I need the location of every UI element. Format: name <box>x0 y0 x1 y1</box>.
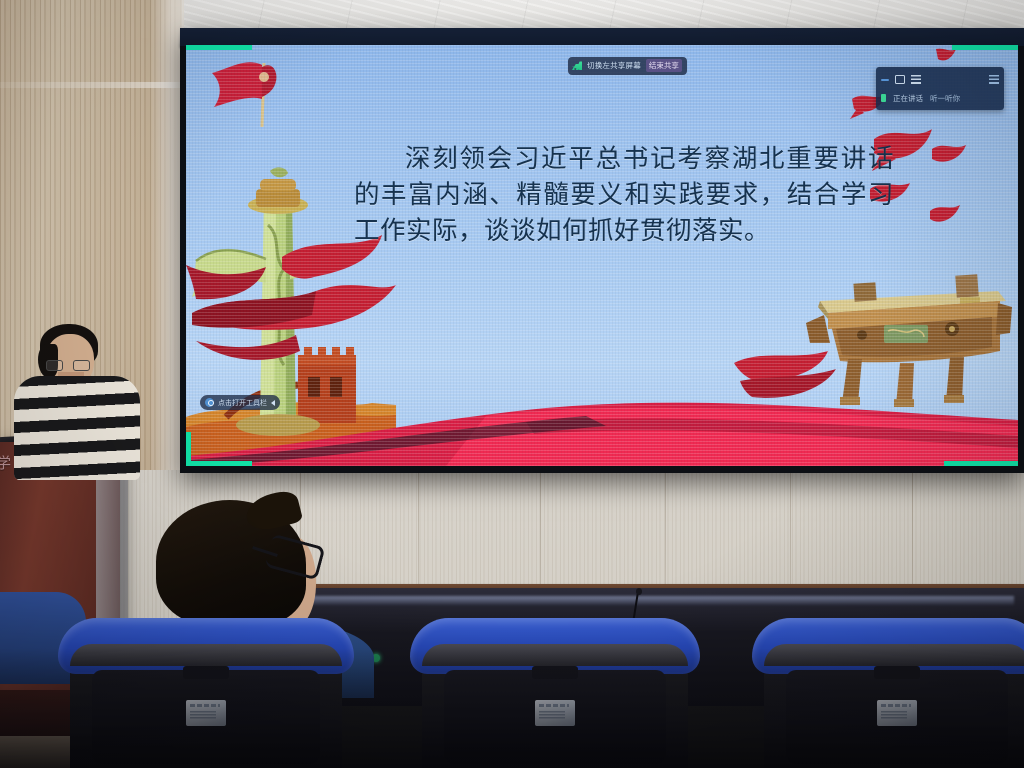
chair-shell-lip <box>764 644 1024 666</box>
mini-toolbar[interactable]: 点击打开工具栏 <box>200 395 280 410</box>
mini-toolbar-label: 点击打开工具栏 <box>218 398 267 408</box>
red-silk-wave-icon <box>186 392 1018 466</box>
chair-label-sticker <box>535 700 575 726</box>
auditorium-chair[interactable] <box>410 618 700 768</box>
microphone-head <box>636 588 642 595</box>
chair-shell-lip <box>70 644 342 666</box>
presenter-glasses-icon <box>46 360 90 371</box>
screen-share-badge[interactable]: 切换左共享屏幕 结束共享 <box>568 57 687 75</box>
lecture-hall-scene: 深刻领会习近平总书记考察湖北重要讲话的丰富内涵、精髓要义和实践要求，结合学习工作… <box>0 0 1024 768</box>
share-status-text: 正在讲话 <box>893 93 923 104</box>
minimize-icon[interactable] <box>881 79 889 81</box>
screen-top-bezel <box>180 28 1024 46</box>
share-panel-toolbar[interactable] <box>881 72 999 87</box>
led-wall-screen[interactable]: 深刻领会习近平总书记考察湖北重要讲话的丰富内涵、精髓要义和实践要求，结合学习工作… <box>180 28 1024 473</box>
chair-tab <box>183 666 229 679</box>
calibration-marker <box>944 461 1018 466</box>
share-speaker-text: 听一听你 <box>930 93 960 104</box>
stop-share-button[interactable]: 结束共享 <box>646 59 682 72</box>
share-control-panel[interactable]: 正在讲话 听一听你 <box>876 67 1004 110</box>
share-panel-status: 正在讲话 听一听你 <box>881 91 999 105</box>
list-icon[interactable] <box>911 75 921 84</box>
signal-bars-icon <box>572 61 582 70</box>
calibration-marker <box>186 45 252 50</box>
wall-corner-edge <box>150 0 184 470</box>
desk-light-reflection <box>272 596 1014 605</box>
calibration-marker <box>952 45 1018 50</box>
chair-label-sticker <box>186 700 226 726</box>
record-icon[interactable] <box>205 398 214 407</box>
auditorium-chair[interactable] <box>752 618 1024 768</box>
presenter-striped-sweater <box>14 376 140 480</box>
red-flag-icon <box>202 55 306 137</box>
chair-shell-lip <box>422 644 688 666</box>
chair-tab <box>532 666 578 679</box>
share-badge-label: 切换左共享屏幕 <box>587 60 641 71</box>
calibration-marker <box>186 461 252 466</box>
auditorium-chair[interactable] <box>58 618 354 768</box>
screen-display-area: 深刻领会习近平总书记考察湖北重要讲话的丰富内涵、精髓要义和实践要求，结合学习工作… <box>186 45 1018 466</box>
chair-tab <box>874 666 920 679</box>
calibration-marker <box>186 432 191 466</box>
slide-body-text: 深刻领会习近平总书记考察湖北重要讲话的丰富内涵、精髓要义和实践要求，结合学习工作… <box>354 141 894 249</box>
window-icon[interactable] <box>895 75 905 84</box>
mic-icon <box>881 94 886 102</box>
presenter <box>10 320 150 490</box>
chair-label-sticker <box>877 700 917 726</box>
menu-icon[interactable] <box>989 75 999 84</box>
chevron-right-icon[interactable] <box>271 400 275 406</box>
